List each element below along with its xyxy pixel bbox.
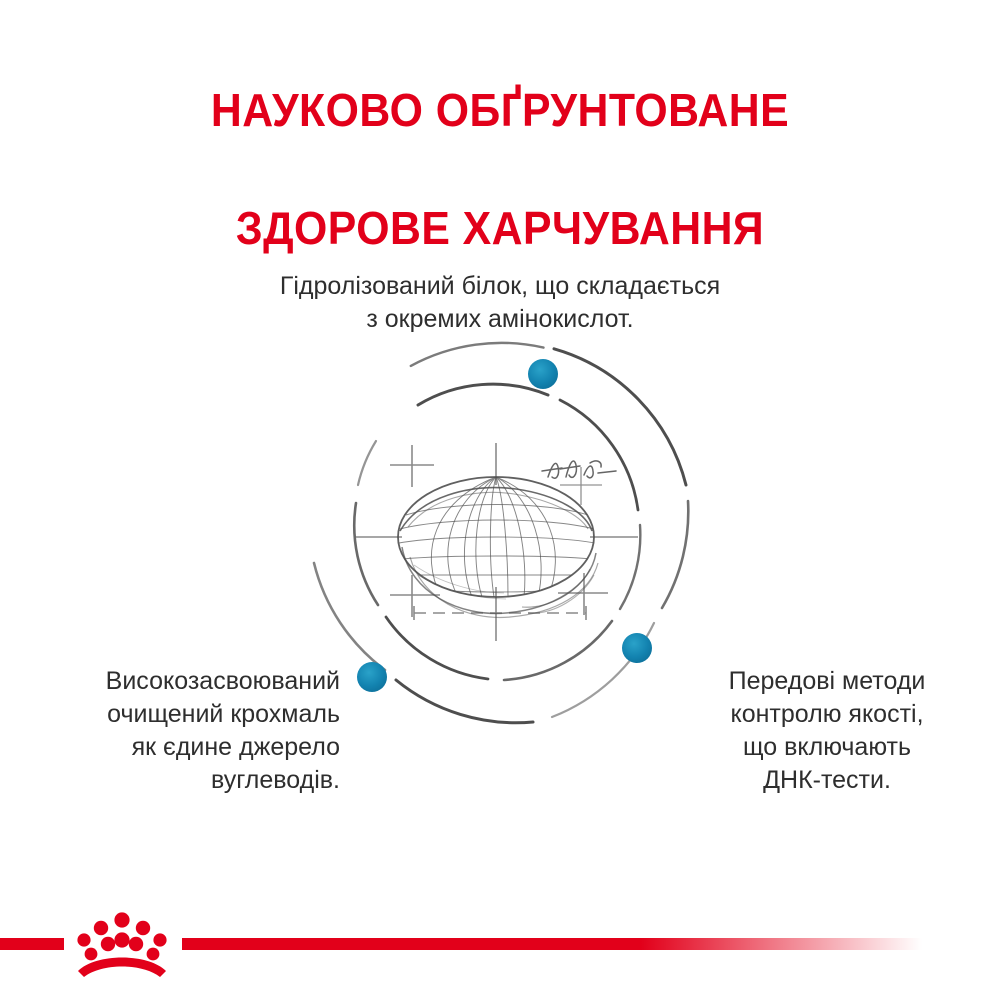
kibble-technical-sketch-diagram: [290, 325, 710, 745]
handwritten-annotation: [542, 461, 616, 478]
marker-dot-bottom-left: [357, 662, 387, 692]
callout-text-quality-control: Передові методи контролю якості, що вклю…: [662, 665, 992, 797]
poster-canvas: НАУКОВО ОБҐРУНТОВАНЕ ЗДОРОВЕ ХАРЧУВАННЯ …: [0, 0, 1000, 1000]
logo-crown: [77, 912, 166, 977]
inner-ring-arcs: [354, 384, 640, 680]
logo-bar-right: [182, 938, 922, 950]
page-title-line-2: ЗДОРОВЕ ХАРЧУВАННЯ: [35, 199, 965, 258]
royal-canin-crown-logo: [0, 895, 1000, 995]
marker-dot-top: [528, 359, 558, 389]
marker-dot-bottom-right: [622, 633, 652, 663]
logo-bar-left: [0, 938, 64, 950]
kibble-sketch: [398, 477, 598, 617]
page-title-line-1: НАУКОВО ОБҐРУНТОВАНЕ: [35, 81, 965, 140]
